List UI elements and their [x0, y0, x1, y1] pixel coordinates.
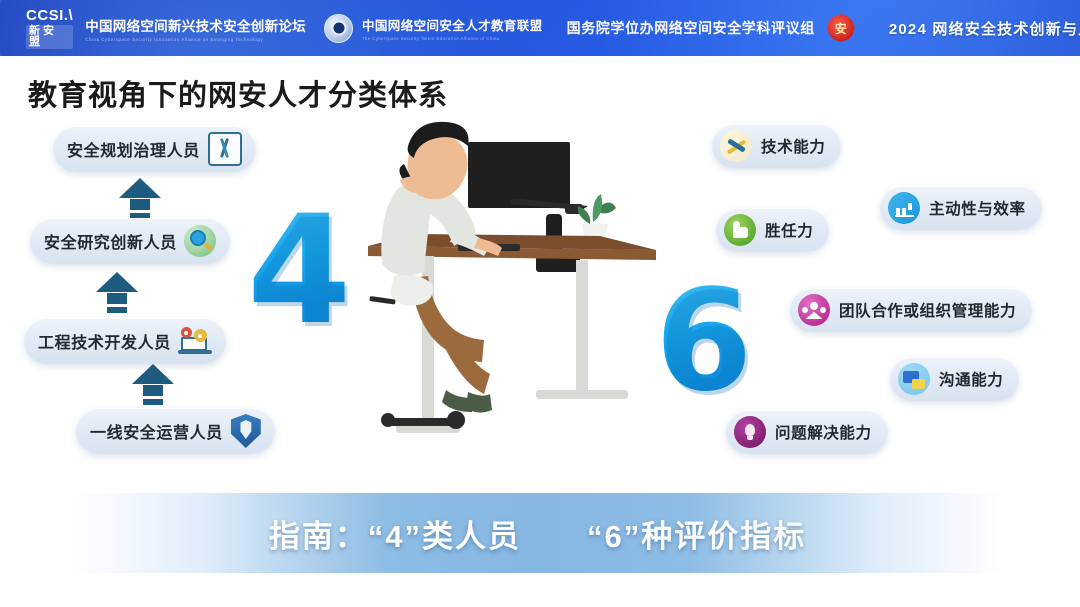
summit-title: 2024 网络安全技术创新与人才教育高峰论坛	[889, 18, 1080, 39]
personnel-pill-engineering[interactable]: 工程技术开发人员	[24, 318, 226, 364]
alliance-name-cn: 中国网络空间安全人才教育联盟	[362, 15, 543, 34]
capability-pill-technical[interactable]: 技术能力	[712, 124, 841, 168]
bottom-summary-text: 指南：“4”类人员 “6”种评价指标	[269, 511, 806, 556]
capability-label-problem-solving: 问题解决能力	[775, 421, 872, 443]
ccsi-logo-sub: 新安盟	[26, 25, 73, 49]
personnel-label-planning: 安全规划治理人员	[67, 137, 200, 161]
personnel-label-operations: 一线安全运营人员	[90, 419, 223, 443]
chat-bubbles-icon	[898, 363, 930, 395]
capability-pill-problem-solving[interactable]: 问题解决能力	[726, 410, 888, 454]
gear-red-icon	[181, 327, 192, 338]
capability-label-teamwork: 团队合作或组织管理能力	[839, 299, 1016, 321]
flow-arrow-up-2	[96, 272, 138, 313]
gear-yellow-icon	[194, 329, 207, 342]
monitor-screen-icon	[468, 142, 570, 208]
flow-arrow-up-3	[132, 364, 174, 405]
wrench-screwdriver-icon	[720, 130, 752, 162]
council-name: 国务院学位办网络空间安全学科评议组	[567, 18, 815, 38]
personnel-label-engineering: 工程技术开发人员	[38, 329, 171, 353]
ccsi-logo-block: CCSI.\ 新安盟 中国网络空间新兴技术安全创新论坛 China Cybers…	[0, 8, 306, 49]
laptop-gears-icon	[178, 326, 212, 356]
flow-arrow-up-1	[119, 178, 161, 219]
security-badge-char: 安	[835, 20, 847, 37]
team-people-icon	[798, 294, 830, 326]
personnel-pill-planning[interactable]: 安全规划治理人员	[53, 126, 256, 172]
forum-name-block: 中国网络空间新兴技术安全创新论坛 China Cyberspace Securi…	[85, 15, 306, 42]
ccsi-logo: CCSI.\ 新安盟	[26, 8, 73, 49]
personnel-pill-research[interactable]: 安全研究创新人员	[30, 218, 230, 264]
personnel-pill-operations[interactable]: 一线安全运营人员	[76, 408, 275, 454]
lightbulb-icon	[734, 416, 766, 448]
bar-chart-icon	[888, 192, 920, 224]
capability-label-technical: 技术能力	[761, 135, 825, 157]
page-title: 教育视角下的网安人才分类体系	[28, 72, 448, 114]
alliance-name-block: 中国网络空间安全人才教育联盟 The Cyberspace Security T…	[362, 15, 543, 41]
slide-root: CCSI.\ 新安盟 中国网络空间新兴技术安全创新论坛 China Cybers…	[0, 0, 1080, 607]
capability-pill-competence[interactable]: 胜任力	[716, 208, 829, 252]
ccsi-logo-main: CCSI.\	[26, 8, 73, 23]
capability-label-competence: 胜任力	[765, 219, 813, 241]
bottom-summary-banner: 指南：“4”类人员 “6”种评价指标	[70, 493, 1005, 573]
capability-pill-teamwork[interactable]: 团队合作或组织管理能力	[790, 288, 1032, 332]
forum-name-cn: 中国网络空间新兴技术安全创新论坛	[85, 15, 306, 35]
capability-pill-initiative[interactable]: 主动性与效率	[880, 186, 1042, 230]
thumbs-up-icon	[724, 214, 756, 246]
personnel-label-research: 安全研究创新人员	[44, 229, 177, 253]
magnifier-icon	[184, 225, 216, 257]
capability-label-communication: 沟通能力	[939, 368, 1003, 390]
person-at-standing-desk-illustration	[360, 118, 670, 448]
conference-header-bar: CCSI.\ 新安盟 中国网络空间新兴技术安全创新论坛 China Cybers…	[0, 0, 1080, 56]
alliance-name-en: The Cyberspace Security Talent Education…	[362, 36, 543, 41]
alliance-seal-icon	[324, 14, 353, 43]
security-badge-icon: 安	[827, 14, 855, 42]
desk-leg-right	[576, 260, 588, 392]
numeral-four: 4	[247, 196, 347, 346]
forum-name-en: China Cyberspace Security Innovation All…	[85, 37, 306, 42]
capability-label-initiative: 主动性与效率	[929, 197, 1026, 219]
shield-icon	[231, 414, 261, 448]
compass-icon	[208, 132, 242, 166]
capability-pill-communication[interactable]: 沟通能力	[890, 357, 1019, 401]
